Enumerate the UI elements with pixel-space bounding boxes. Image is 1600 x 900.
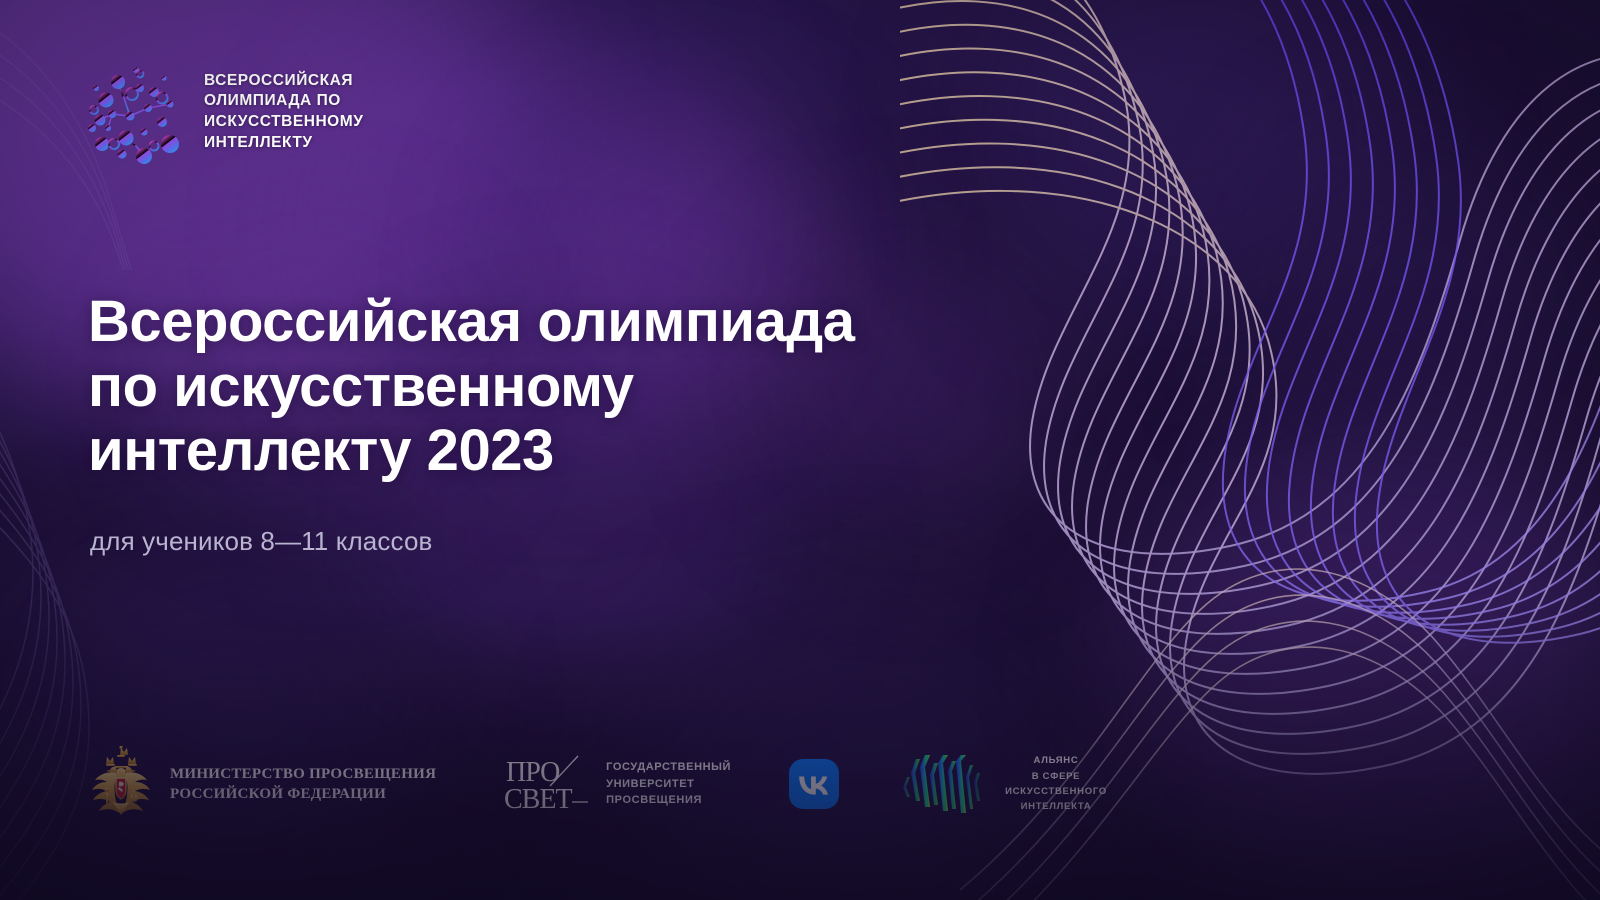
background-bottom-fade [0, 600, 1600, 900]
promo-banner: ВСЕРОССИЙСКАЯ ОЛИМПИАДА ПО ИСКУССТВЕННОМ… [0, 0, 1600, 900]
